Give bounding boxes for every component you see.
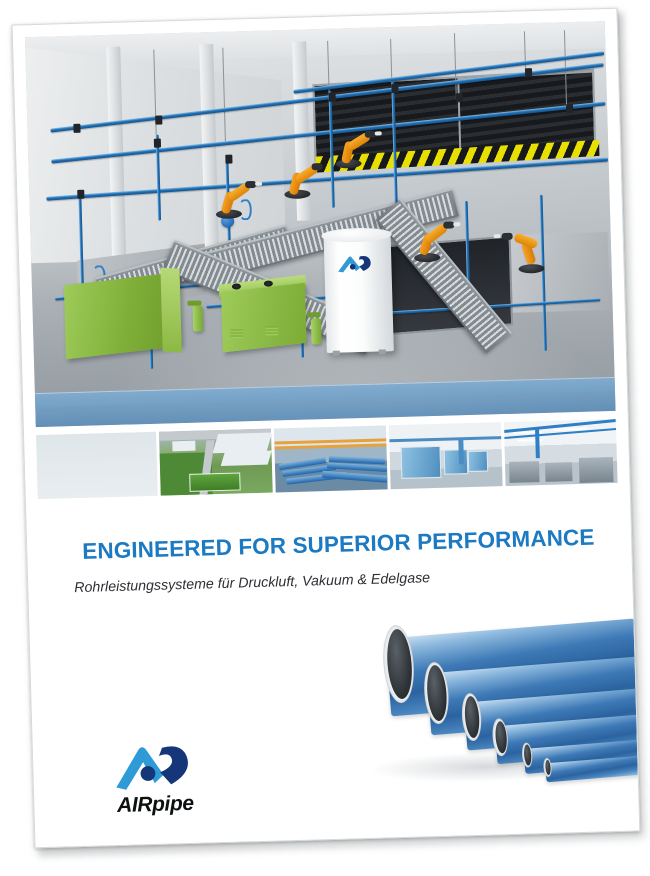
brand-word-pipe: pipe [152, 792, 194, 816]
tank-foot [332, 351, 339, 356]
dryer-fan [264, 280, 273, 286]
robot-tool [494, 234, 501, 238]
thumb-compressor-room [389, 422, 503, 489]
thumb-blank-panel [36, 432, 158, 499]
page-subtitle: Rohrleistungssysteme für Druckluft, Vaku… [74, 566, 594, 597]
robot-wrist [312, 163, 323, 170]
pipe-clamp [77, 190, 84, 199]
thumb-factory-interior [504, 419, 618, 486]
brand-word-air: AIR [117, 793, 153, 817]
pipe-clamp [74, 124, 81, 133]
air-receiver-tank [323, 234, 393, 353]
pipes-product-photo [358, 597, 639, 815]
airpipe-chevron-logo-icon [113, 739, 196, 793]
filter-vessel [192, 305, 203, 331]
pipe-clamp [155, 115, 162, 124]
pipe-clamp [525, 68, 532, 77]
airpipe-logo-on-tank [336, 254, 377, 274]
pipe-clamp [225, 154, 232, 163]
thumb-warehouse-pipe-stock [274, 425, 388, 492]
pipe-clamp [328, 93, 335, 102]
robot-tool [453, 222, 460, 226]
brochure-page: ENGINEERED FOR SUPERIOR PERFORMANCE Rohr… [12, 8, 643, 853]
robot-base [519, 263, 545, 273]
filter-head [307, 312, 321, 317]
page-surface: ENGINEERED FOR SUPERIOR PERFORMANCE Rohr… [12, 8, 641, 849]
brand-logo: AIRpipe [95, 738, 215, 818]
dryer-grill [230, 330, 243, 339]
refrigerant-dryer-unit [221, 283, 307, 353]
air-compressor-unit [64, 272, 182, 359]
brand-wordmark: AIRpipe [96, 791, 215, 818]
coiled-hose [238, 199, 252, 220]
filter-head [188, 300, 202, 305]
pipe-clamp [154, 139, 161, 148]
screenshot-canvas: ENGINEERED FOR SUPERIOR PERFORMANCE Rohr… [0, 0, 650, 876]
hero-image [25, 21, 616, 427]
hero-scene [25, 21, 616, 427]
tank-foot [379, 349, 386, 354]
pipe-clamp [566, 104, 573, 113]
dryer-grill [265, 327, 278, 336]
thumbnail-strip [36, 419, 618, 499]
pipe-clamp [456, 93, 463, 102]
robot-tool [255, 182, 262, 186]
page-title: ENGINEERED FOR SUPERIOR PERFORMANCE [82, 524, 603, 565]
pipe-clamp [392, 83, 399, 92]
robot-wrist [502, 232, 513, 239]
filter-vessel [311, 318, 322, 344]
robot-wrist [245, 181, 256, 188]
thumb-aerial-factory [159, 429, 273, 496]
